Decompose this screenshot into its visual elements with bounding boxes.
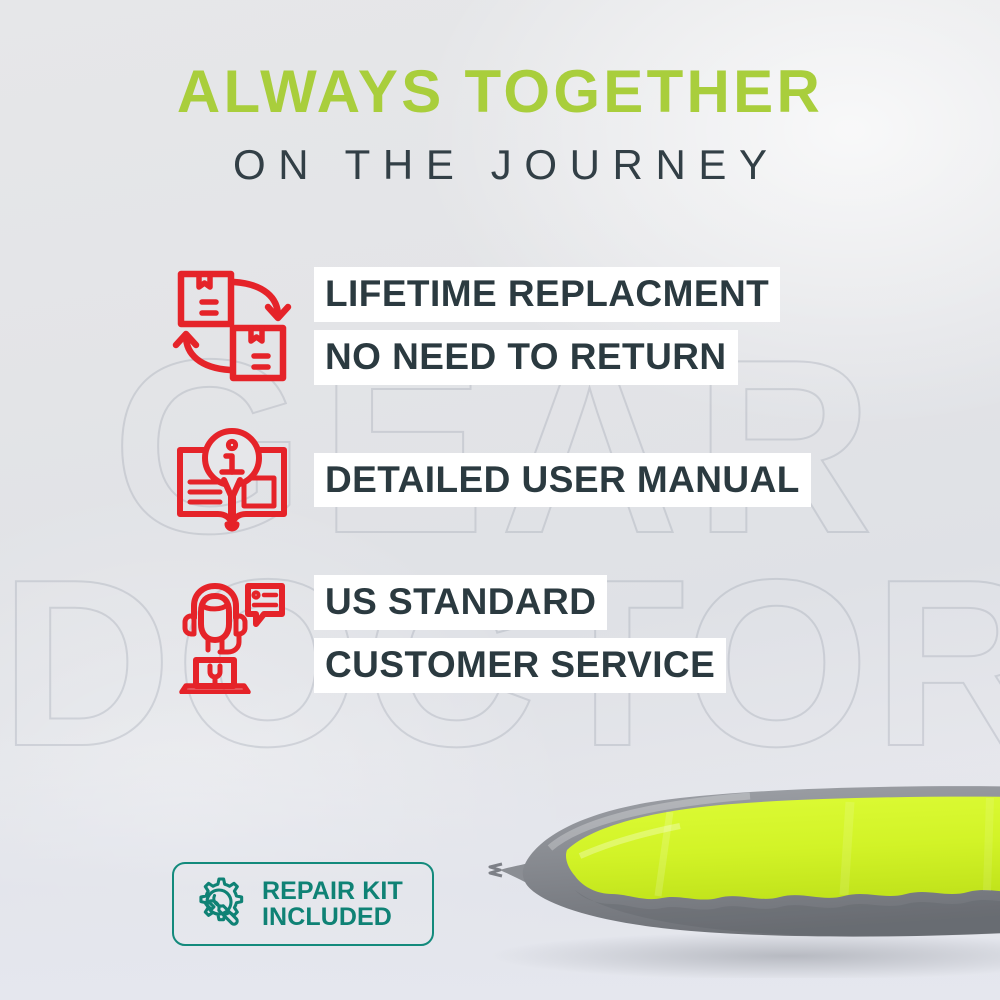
support-agent-headset-icon — [168, 570, 296, 698]
repair-kit-badge-text: REPAIR KIT INCLUDED — [262, 878, 403, 930]
badge-line-2: INCLUDED — [262, 904, 403, 930]
headline-block: ALWAYS TOGETHER ON THE JOURNEY — [0, 62, 1000, 186]
feature-text-customer-service: US STANDARD CUSTOMER SERVICE — [314, 575, 726, 692]
floor-shadow — [0, 750, 1000, 1000]
feature-text-user-manual: DETAILED USER MANUAL — [314, 453, 811, 508]
feature-line: US STANDARD — [314, 575, 607, 630]
feature-line: NO NEED TO RETURN — [314, 330, 738, 385]
headline-secondary: ON THE JOURNEY — [0, 144, 1000, 186]
feature-text-lifetime-replacement: LIFETIME REPLACMENT NO NEED TO RETURN — [314, 267, 780, 384]
feature-item-lifetime-replacement: LIFETIME REPLACMENT NO NEED TO RETURN — [168, 262, 868, 390]
headline-primary: ALWAYS TOGETHER — [0, 62, 1000, 122]
repair-kit-badge: REPAIR KIT INCLUDED — [172, 862, 434, 946]
feature-list: LIFETIME REPLACMENT NO NEED TO RETURN — [168, 262, 868, 724]
feature-line: CUSTOMER SERVICE — [314, 638, 726, 693]
product-feature-graphic: GEAR DOCTORS ALWAYS TOGETHER ON THE JOUR… — [0, 0, 1000, 1000]
feature-item-user-manual: DETAILED USER MANUAL — [168, 416, 868, 544]
feature-line: LIFETIME REPLACMENT — [314, 267, 780, 322]
badge-line-1: REPAIR KIT — [262, 878, 403, 904]
package-exchange-icon — [168, 262, 296, 390]
gear-wrench-icon — [188, 873, 250, 935]
open-book-info-icon — [168, 416, 296, 544]
feature-line: DETAILED USER MANUAL — [314, 453, 811, 508]
product-image-inflatable-pillow — [430, 778, 1000, 978]
feature-item-customer-service: US STANDARD CUSTOMER SERVICE — [168, 570, 868, 698]
